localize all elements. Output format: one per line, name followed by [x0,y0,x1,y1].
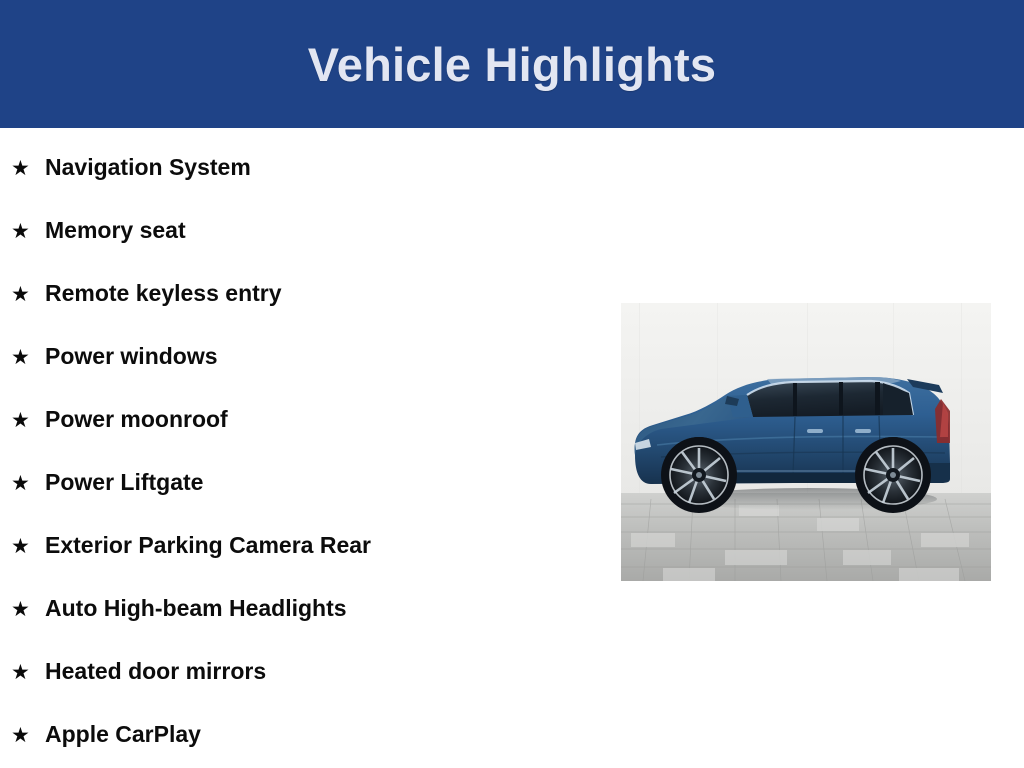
star-icon: ★ [11,283,45,305]
page-title: Vehicle Highlights [308,41,716,88]
list-item: ★ Auto High-beam Headlights [0,577,600,640]
star-icon: ★ [11,535,45,557]
front-wheel [661,437,737,513]
list-item: ★ Power moonroof [0,388,600,451]
vehicle-highlights-list: ★ Navigation System ★ Memory seat ★ Remo… [0,136,600,766]
list-item: ★ Heated door mirrors [0,640,600,703]
list-item: ★ Remote keyless entry [0,262,600,325]
vehicle-photo-illustration [621,303,991,581]
header-banner: Vehicle Highlights [0,0,1024,128]
star-icon: ★ [11,157,45,179]
star-icon: ★ [11,598,45,620]
star-icon: ★ [11,220,45,242]
list-item: ★ Memory seat [0,199,600,262]
rear-wheel [855,437,931,513]
list-item-label: Power Liftgate [45,470,203,495]
list-item: ★ Power windows [0,325,600,388]
list-item: ★ Power Liftgate [0,451,600,514]
list-item-label: Memory seat [45,218,186,243]
list-item-label: Navigation System [45,155,251,180]
list-item: ★ Navigation System [0,136,600,199]
list-item-label: Power windows [45,344,218,369]
list-item-label: Apple CarPlay [45,722,201,747]
list-item-label: Exterior Parking Camera Rear [45,533,371,558]
star-icon: ★ [11,346,45,368]
list-item-label: Remote keyless entry [45,281,282,306]
list-item-label: Auto High-beam Headlights [45,596,347,621]
list-item: ★ Apple CarPlay [0,703,600,766]
list-item-label: Power moonroof [45,407,228,432]
vehicle-photo [621,303,991,581]
star-icon: ★ [11,724,45,746]
star-icon: ★ [11,472,45,494]
star-icon: ★ [11,409,45,431]
star-icon: ★ [11,661,45,683]
list-item: ★ Exterior Parking Camera Rear [0,514,600,577]
list-item-label: Heated door mirrors [45,659,266,684]
